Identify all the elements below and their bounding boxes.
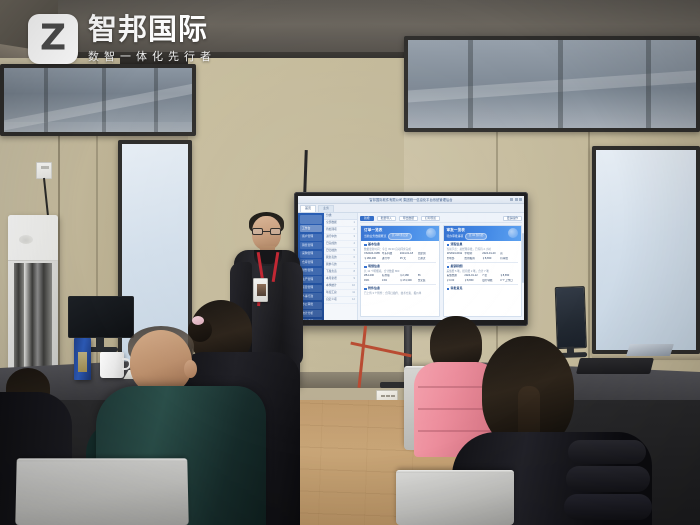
field-value: 高 xyxy=(500,252,503,255)
field: 费用报销 xyxy=(464,257,480,260)
brand-logo-overlay: Z 智邦国际 数智一体化先行者 xyxy=(28,14,216,64)
attendee-front-head xyxy=(130,330,192,394)
field: 2024-01-18 xyxy=(400,252,416,255)
card-header: 订单一览表 当前业务数据概览 共 228 条记录 xyxy=(361,226,439,241)
field: ￥8,650 xyxy=(482,257,498,260)
minimize-icon[interactable] xyxy=(510,198,513,201)
export-button[interactable]: 导出数据 xyxy=(399,216,418,222)
list-item[interactable]: 待处理项 2 xyxy=(324,227,357,234)
field-value: 45 天 xyxy=(400,257,406,260)
field-value: 费用报销 xyxy=(464,257,474,260)
office-chair[interactable] xyxy=(15,458,189,525)
field-value: SP2024-0912 xyxy=(447,252,463,255)
card-subtitle: 当前业务数据概览 xyxy=(364,235,386,238)
meeting-room-photo: 智邦国际软件有限公司 集团统一信息化平台系统管理后台 首页 业务 工作台 xyxy=(0,0,700,525)
field: 银行转账 xyxy=(482,279,498,282)
field: ZB-1200 xyxy=(364,274,380,277)
field: ￥2,180 xyxy=(400,274,416,277)
list-item-label: 全部数据 xyxy=(326,221,337,224)
sidebar-item-customer[interactable]: 客户管理 xyxy=(300,234,322,241)
field-value: ￥186,400 xyxy=(364,257,376,260)
list-item-count: 10 xyxy=(352,284,355,287)
section-note: 差旅费 5 笔，招待费 2 笔，合计 7 笔 xyxy=(447,270,519,273)
category-list-panel[interactable]: 分类 全部数据 1 待处理项 2 进行中的 3 已完成的 xyxy=(324,213,358,320)
main-content[interactable]: 新增 批量导入 导出数据 打印预览 更多操作 订单一 xyxy=(358,213,524,320)
wall-control-box[interactable] xyxy=(36,162,52,179)
section-title-row: 报销明细 xyxy=(447,265,519,269)
field: ￥8,650 xyxy=(464,279,480,282)
field-value: 93% xyxy=(364,279,369,282)
field: ￥8,650 xyxy=(500,274,516,277)
card-subtitle: 待办审批事项 xyxy=(447,235,464,238)
list-item-count: 3 xyxy=(354,235,356,238)
section-title-row: 审批意见 xyxy=(447,287,519,291)
card-body: 流程信息 当前节点：总经理审批，已等待 2 小时 SP2024-0912 李晓明… xyxy=(444,241,522,316)
list-item-label: 下属负责 xyxy=(326,270,337,273)
field: 3 个工作日 xyxy=(500,279,516,282)
list-item-label: 已归档的 xyxy=(326,249,337,252)
field-value: 市场部 xyxy=(447,257,455,260)
list-item-label: 待处理项 xyxy=(326,228,337,231)
id-badge xyxy=(253,278,268,302)
bullet-icon xyxy=(364,244,367,247)
list-item[interactable]: 全部数据 1 xyxy=(324,220,357,227)
section-note: 已上传 3 个附件：合同扫描件、技术方案、报价单 xyxy=(364,292,436,295)
jacket-puff-panel xyxy=(566,466,650,492)
field-grid: SP2024-0912 李晓明 2024-01-20 高 市场部 费用报销 ￥8… xyxy=(447,252,519,259)
air-conditioner[interactable] xyxy=(8,215,58,390)
card-subtitle-row: 当前业务数据概览 共 228 条记录 xyxy=(364,233,436,240)
list-item[interactable]: 本月新增 9 xyxy=(324,276,357,283)
field-value: ￥8,650 xyxy=(464,279,473,282)
field-value: 7 张 xyxy=(482,274,487,277)
field-value: ￥8,650 xyxy=(500,274,509,277)
app-titlebar: 智邦国际软件有限公司 集团统一信息化平台系统管理后台 xyxy=(298,196,524,204)
field-value: ￥2,180 xyxy=(400,274,409,277)
keyboard[interactable] xyxy=(576,358,654,374)
field: XS2024-0185 xyxy=(364,252,380,255)
sidebar-item-purchase[interactable]: 采购管理 xyxy=(300,251,322,258)
sidebar-item-hr[interactable]: 人事行政 xyxy=(300,293,322,300)
field: 已通过 xyxy=(418,257,434,260)
field: 待审批 xyxy=(500,257,516,260)
section-attachments: 附件信息 已上传 3 个附件：合同扫描件、技术方案、报价单 xyxy=(364,287,436,295)
toolbar-right[interactable]: 更多操作 xyxy=(503,216,522,222)
content-toolbar[interactable]: 新增 批量导入 导出数据 打印预览 更多操作 xyxy=(360,215,522,223)
field: 标准版 xyxy=(382,274,398,277)
field: 含安装 xyxy=(418,279,434,282)
ac-logo-badge xyxy=(19,235,33,244)
jacket-puff-panel xyxy=(564,494,652,520)
attendee-front-ear xyxy=(184,360,197,378)
list-item-label: 本月新增 xyxy=(326,277,337,280)
jacket-seam xyxy=(418,430,494,432)
field: 2024-01-20 xyxy=(482,252,498,255)
bullet-icon xyxy=(364,266,367,269)
bullet-icon xyxy=(447,244,450,247)
field-grid: 差旅交通 2024-01-12 7 张 ￥8,650 ￥0.00 ￥8,650 … xyxy=(447,274,519,281)
list-item[interactable]: 我负责的 6 xyxy=(324,255,357,262)
list-item-label: 进行中的 xyxy=(326,235,337,238)
logo-letter: Z xyxy=(40,20,66,56)
list-item[interactable]: 本季统计 10 xyxy=(324,283,357,290)
field: 93% xyxy=(364,279,380,282)
card-count-badge: 共 34 条待办 xyxy=(465,233,487,240)
field-value: 李晓明 xyxy=(464,252,472,255)
list-item-count: 11 xyxy=(352,291,355,294)
section-basic-info: 基本信息 数据更新时间：今日 09:30 自动同步完成 XS2024-0185 … xyxy=(364,243,436,260)
field-value: 银行转账 xyxy=(482,279,492,282)
card-header: 审批一览表 待办审批事项 共 34 条待办 xyxy=(444,226,522,241)
field-value: 2024-01-20 xyxy=(482,252,495,255)
section-approval-comment: 审批意见 xyxy=(447,287,519,291)
office-chair[interactable] xyxy=(396,470,514,525)
import-button[interactable]: 批量导入 xyxy=(377,216,396,222)
field: 7 张 xyxy=(482,274,498,277)
field: SP2024-0912 xyxy=(447,252,463,255)
monitor-right[interactable] xyxy=(555,285,620,361)
window-controls[interactable] xyxy=(510,198,522,201)
sidebar-item-approval[interactable]: 办公审批 xyxy=(300,302,322,309)
field: 差旅交通 xyxy=(447,274,463,277)
field: 张建国 xyxy=(418,252,434,255)
list-item[interactable]: 进行中的 3 xyxy=(324,234,357,241)
monitor-screen[interactable] xyxy=(68,296,134,338)
field: 华东科技 xyxy=(382,252,398,255)
card-count-badge: 共 228 条记录 xyxy=(388,233,411,240)
list-item-label: 本季统计 xyxy=(326,284,337,287)
field: 高 xyxy=(500,252,516,255)
list-item[interactable]: 我参与的 7 xyxy=(324,262,357,269)
logo-mark-icon: Z xyxy=(28,14,78,64)
wall-display[interactable]: 智邦国际软件有限公司 集团统一信息化平台系统管理后台 首页 业务 工作台 xyxy=(294,192,528,326)
field-value: ￥174,300 xyxy=(400,279,412,282)
field-value: 张建国 xyxy=(418,252,426,255)
glasses-icon xyxy=(252,228,281,235)
close-icon[interactable] xyxy=(519,198,522,201)
tab-home[interactable]: 首页 xyxy=(300,205,316,212)
window-view-exterior xyxy=(408,40,696,128)
card-order-overview[interactable]: 订单一览表 当前业务数据概览 共 228 条记录 xyxy=(360,225,440,317)
section-title: 明细信息 xyxy=(368,265,380,269)
jacket-puff-panel xyxy=(568,440,646,464)
app-title: 智邦国际软件有限公司 集团统一信息化平台系统管理后台 xyxy=(369,198,452,202)
field-value: 已通过 xyxy=(418,257,426,260)
field-value: ￥0.00 xyxy=(447,279,455,282)
section-flow-info: 流程信息 当前节点：总经理审批，已等待 2 小时 SP2024-0912 李晓明… xyxy=(447,243,519,260)
card-body: 基本信息 数据更新时间：今日 09:30 自动同步完成 XS2024-0185 … xyxy=(361,241,439,316)
list-item-count: 2 xyxy=(354,228,356,231)
list-item-count: 8 xyxy=(354,270,356,273)
sidebar-item-sales[interactable]: 销售管理 xyxy=(300,242,322,249)
bullet-icon xyxy=(447,266,450,269)
window-top-right xyxy=(404,36,700,132)
field-value: XS2024-0185 xyxy=(364,252,380,255)
list-item[interactable]: 下属负责 8 xyxy=(324,269,357,276)
logo-text-block: 智邦国际 数智一体化先行者 xyxy=(88,14,216,63)
white-mug[interactable] xyxy=(100,352,124,378)
list-item-count: 5 xyxy=(354,249,356,252)
mousepad xyxy=(626,344,674,356)
sidebar-item-finance[interactable]: 财务管理 xyxy=(300,268,322,275)
section-reimbursement-detail: 报销明细 差旅费 5 笔，招待费 2 笔，合计 7 笔 差旅交通 2024-01… xyxy=(447,265,519,282)
field-value: 差旅交通 xyxy=(447,274,457,277)
field-value: 进行中 xyxy=(382,257,390,260)
field: ￥174,300 xyxy=(400,279,416,282)
list-item-count: 1 xyxy=(354,221,356,224)
field-value: 含安装 xyxy=(418,279,426,282)
field: ￥186,400 xyxy=(364,257,380,260)
card-title: 订单一览表 xyxy=(364,228,436,232)
list-item-count: 4 xyxy=(354,242,356,245)
ac-top-panel xyxy=(8,215,58,261)
hair-tie xyxy=(192,316,204,325)
print-button[interactable]: 打印预览 xyxy=(421,216,440,222)
section-title-row: 明细信息 xyxy=(364,265,436,269)
bullet-icon xyxy=(447,288,450,291)
list-item-count: 9 xyxy=(354,277,356,280)
sidebar-item-settings[interactable]: 系统设置 xyxy=(300,319,322,321)
sidebar-item-project[interactable]: 项目管理 xyxy=(300,285,322,292)
window-upper-left xyxy=(0,64,196,136)
field-value: ￥8,650 xyxy=(482,257,491,260)
vertical-scrollbar[interactable] xyxy=(522,233,524,283)
card-approval-overview[interactable]: 审批一览表 待办审批事项 共 34 条待办 xyxy=(443,225,523,317)
list-panel-header: 分类 xyxy=(324,213,357,220)
maximize-icon[interactable] xyxy=(515,198,518,201)
list-item-label: 我负责的 xyxy=(326,256,337,259)
company-name: 智邦国际 xyxy=(88,14,216,44)
section-note: 当前节点：总经理审批，已等待 2 小时 xyxy=(447,248,519,251)
field-value: 待审批 xyxy=(500,257,508,260)
field: 86 xyxy=(418,274,434,277)
sidebar-logo xyxy=(300,215,322,224)
tab-bar[interactable]: 首页 业务 xyxy=(298,204,524,213)
list-item-label: 自定义项 xyxy=(326,298,337,301)
window-view-exterior xyxy=(4,68,192,132)
list-item[interactable]: 已归档的 5 xyxy=(324,248,357,255)
field-value: 2024-01-18 xyxy=(400,252,413,255)
list-item[interactable]: 年度汇总 11 xyxy=(324,290,357,297)
field-value: 13% xyxy=(382,279,387,282)
section-title: 流程信息 xyxy=(451,243,463,247)
field: 市场部 xyxy=(447,257,463,260)
field-value: ZB-1200 xyxy=(364,274,374,277)
section-title: 附件信息 xyxy=(368,287,380,291)
bullet-icon xyxy=(364,288,367,291)
field-grid: XS2024-0185 华东科技 2024-01-18 张建国 ￥186,400… xyxy=(364,252,436,259)
section-title-row: 基本信息 xyxy=(364,243,436,247)
list-item-label: 我参与的 xyxy=(326,263,337,266)
section-detail-info: 明细信息 共 12 个明细项，合计数量 860 ZB-1200 标准版 ￥2,1… xyxy=(364,265,436,282)
list-item-label: 年度汇总 xyxy=(326,291,337,294)
list-item-count: 12 xyxy=(352,298,355,301)
field-value: 86 xyxy=(418,274,421,277)
field: 2024-01-12 xyxy=(464,274,480,277)
erp-application[interactable]: 智邦国际软件有限公司 集团统一信息化平台系统管理后台 首页 业务 工作台 xyxy=(298,196,524,320)
company-tagline: 数智一体化先行者 xyxy=(88,48,216,64)
tab-business[interactable]: 业务 xyxy=(318,205,334,212)
list-item-label: 已完成的 xyxy=(326,242,337,245)
add-button[interactable]: 新增 xyxy=(360,216,374,222)
section-note: 共 12 个明细项，合计数量 860 xyxy=(364,270,436,273)
section-title: 审批意见 xyxy=(451,287,463,291)
field: 45 天 xyxy=(400,257,416,260)
list-item[interactable]: 自定义项 12 xyxy=(324,297,357,304)
card-row: 订单一览表 当前业务数据概览 共 228 条记录 xyxy=(360,225,522,317)
tv-screen[interactable]: 智邦国际软件有限公司 集团统一信息化平台系统管理后台 首页 业务 工作台 xyxy=(298,196,524,320)
section-note: 数据更新时间：今日 09:30 自动同步完成 xyxy=(364,248,436,251)
presenter-arm-right xyxy=(282,262,303,366)
field: 进行中 xyxy=(382,257,398,260)
sidebar-item-workbench[interactable]: 工作台 xyxy=(300,225,322,232)
field-value: 华东科技 xyxy=(382,252,392,255)
more-actions-button[interactable]: 更多操作 xyxy=(503,216,522,222)
sidebar-item-warehouse[interactable]: 仓库管理 xyxy=(300,259,322,266)
field-value: 3 个工作日 xyxy=(500,279,513,282)
list-item[interactable]: 已完成的 4 xyxy=(324,241,357,248)
section-title: 基本信息 xyxy=(368,243,380,247)
list-item-count: 6 xyxy=(354,256,356,259)
monitor-screen[interactable] xyxy=(555,286,587,349)
blue-product-box[interactable] xyxy=(74,338,91,380)
sidebar-item-analytics[interactable]: 统计分析 xyxy=(300,310,322,317)
sidebar-item-production[interactable]: 生产管理 xyxy=(300,276,322,283)
section-title: 报销明细 xyxy=(451,265,463,269)
section-title-row: 附件信息 xyxy=(364,287,436,291)
field: ￥0.00 xyxy=(447,279,463,282)
list-item-count: 7 xyxy=(354,263,356,266)
field-grid: ZB-1200 标准版 ￥2,180 86 93% 13% ￥174,300 含… xyxy=(364,274,436,281)
section-title-row: 流程信息 xyxy=(447,243,519,247)
field-value: 2024-01-12 xyxy=(464,274,477,277)
field: 13% xyxy=(382,279,398,282)
field-value: 标准版 xyxy=(382,274,390,277)
field: 李晓明 xyxy=(464,252,480,255)
card-subtitle-row: 待办审批事项 共 34 条待办 xyxy=(447,233,519,240)
